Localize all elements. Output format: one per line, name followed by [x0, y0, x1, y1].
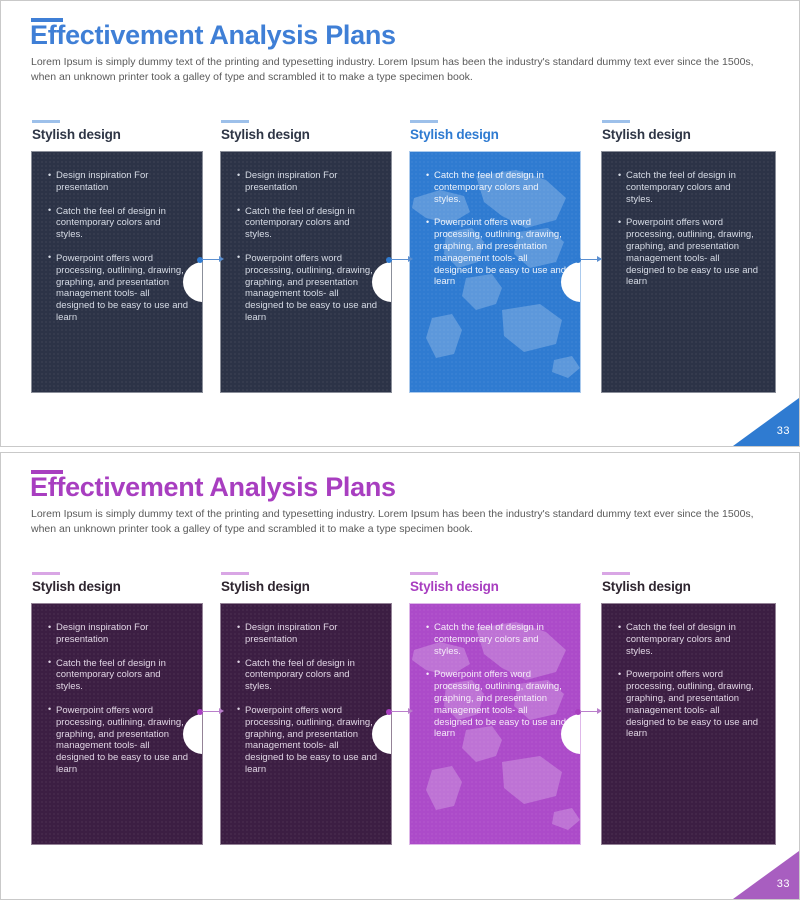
card-heading: Stylish design — [602, 127, 776, 142]
card-body: Design inspiration For presentation Catc… — [220, 151, 392, 393]
card-heading: Stylish design — [32, 127, 203, 142]
list-item: Powerpoint offers word processing, outli… — [48, 253, 190, 324]
list-item: Powerpoint offers word processing, outli… — [426, 669, 568, 740]
list-item: Design inspiration For presentation — [237, 170, 379, 194]
bullet-list: Design inspiration For presentation Catc… — [221, 604, 391, 776]
page-title: Effectivement Analysis Plans — [30, 472, 396, 503]
connector-line — [202, 711, 220, 713]
card-3-highlighted[interactable]: Stylish design — [409, 579, 581, 845]
card-body: Design inspiration For presentation Catc… — [31, 151, 203, 393]
connector-arrow-2 — [386, 255, 416, 264]
card-heading: Stylish design — [221, 579, 392, 594]
card-body: Catch the feel of design in contemporary… — [409, 603, 581, 845]
list-item: Catch the feel of design in contemporary… — [237, 206, 379, 241]
corner-triangle-icon — [733, 851, 799, 899]
bullet-list: Catch the feel of design in contemporary… — [410, 604, 580, 740]
card-body: Design inspiration For presentation Catc… — [220, 603, 392, 845]
list-item: Powerpoint offers word processing, outli… — [618, 669, 759, 740]
list-item: Design inspiration For presentation — [48, 170, 190, 194]
bullet-list: Design inspiration For presentation Catc… — [32, 604, 202, 776]
card-1[interactable]: Stylish design Design inspiration For pr… — [31, 127, 203, 393]
page-number: 33 — [777, 425, 790, 437]
list-item: Catch the feel of design in contemporary… — [237, 658, 379, 693]
page-subtitle: Lorem Ipsum is simply dummy text of the … — [31, 507, 761, 537]
card-heading: Stylish design — [410, 127, 581, 142]
connector-line — [580, 711, 598, 713]
cards-row: Stylish design Design inspiration For pr… — [1, 579, 800, 854]
arrow-head-icon — [219, 708, 224, 714]
card-accent-bar — [410, 572, 438, 575]
connector-line — [202, 259, 220, 261]
arrow-head-icon — [408, 708, 413, 714]
arrow-head-icon — [408, 256, 413, 262]
list-item: Catch the feel of design in contemporary… — [426, 622, 568, 657]
page-title: Effectivement Analysis Plans — [30, 20, 396, 51]
card-accent-bar — [410, 120, 438, 123]
presentation-page: Effectivement Analysis Plans Lorem Ipsum… — [0, 0, 800, 900]
card-body: Catch the feel of design in contemporary… — [409, 151, 581, 393]
list-item: Powerpoint offers word processing, outli… — [426, 217, 568, 288]
connector-arrow-2 — [386, 707, 416, 716]
card-accent-bar — [221, 572, 249, 575]
page-subtitle: Lorem Ipsum is simply dummy text of the … — [31, 55, 761, 85]
connector-arrow-1 — [197, 255, 227, 264]
card-3-highlighted[interactable]: Stylish design — [409, 127, 581, 393]
list-item: Catch the feel of design in contemporary… — [618, 622, 759, 657]
bullet-list: Catch the feel of design in contemporary… — [410, 152, 580, 288]
slide-blue: Effectivement Analysis Plans Lorem Ipsum… — [0, 0, 800, 447]
arrow-head-icon — [597, 708, 602, 714]
connector-line — [391, 711, 409, 713]
page-number: 33 — [777, 878, 790, 890]
list-item: Catch the feel of design in contemporary… — [48, 206, 190, 241]
connector-line — [391, 259, 409, 261]
card-heading: Stylish design — [410, 579, 581, 594]
card-heading: Stylish design — [221, 127, 392, 142]
card-2[interactable]: Stylish design Design inspiration For pr… — [220, 579, 392, 845]
list-item: Powerpoint offers word processing, outli… — [237, 253, 379, 324]
card-2[interactable]: Stylish design Design inspiration For pr… — [220, 127, 392, 393]
corner-triangle-icon — [733, 398, 799, 446]
bullet-list: Design inspiration For presentation Catc… — [32, 152, 202, 324]
bullet-list: Catch the feel of design in contemporary… — [602, 604, 775, 740]
card-accent-bar — [32, 572, 60, 575]
list-item: Powerpoint offers word processing, outli… — [48, 705, 190, 776]
list-item: Catch the feel of design in contemporary… — [426, 170, 568, 205]
card-body: Catch the feel of design in contemporary… — [601, 151, 776, 393]
connector-line — [580, 259, 598, 261]
connector-arrow-3 — [575, 255, 605, 264]
card-heading: Stylish design — [32, 579, 203, 594]
card-accent-bar — [602, 572, 630, 575]
card-body: Design inspiration For presentation Catc… — [31, 603, 203, 845]
card-body: Catch the feel of design in contemporary… — [601, 603, 776, 845]
page-corner: 33 — [733, 851, 799, 899]
card-4[interactable]: Stylish design Catch the feel of design … — [601, 127, 776, 393]
arrow-head-icon — [219, 256, 224, 262]
card-accent-bar — [221, 120, 249, 123]
slide-purple: Effectivement Analysis Plans Lorem Ipsum… — [0, 452, 800, 900]
bullet-list: Catch the feel of design in contemporary… — [602, 152, 775, 288]
bullet-list: Design inspiration For presentation Catc… — [221, 152, 391, 324]
list-item: Powerpoint offers word processing, outli… — [237, 705, 379, 776]
page-corner: 33 — [733, 398, 799, 446]
card-1[interactable]: Stylish design Design inspiration For pr… — [31, 579, 203, 845]
list-item: Catch the feel of design in contemporary… — [48, 658, 190, 693]
card-4[interactable]: Stylish design Catch the feel of design … — [601, 579, 776, 845]
card-accent-bar — [602, 120, 630, 123]
list-item: Design inspiration For presentation — [237, 622, 379, 646]
arrow-head-icon — [597, 256, 602, 262]
list-item: Powerpoint offers word processing, outli… — [618, 217, 759, 288]
list-item: Catch the feel of design in contemporary… — [618, 170, 759, 205]
connector-arrow-3 — [575, 707, 605, 716]
list-item: Design inspiration For presentation — [48, 622, 190, 646]
card-heading: Stylish design — [602, 579, 776, 594]
card-accent-bar — [32, 120, 60, 123]
cards-row: Stylish design Design inspiration For pr… — [1, 127, 800, 402]
connector-arrow-1 — [197, 707, 227, 716]
